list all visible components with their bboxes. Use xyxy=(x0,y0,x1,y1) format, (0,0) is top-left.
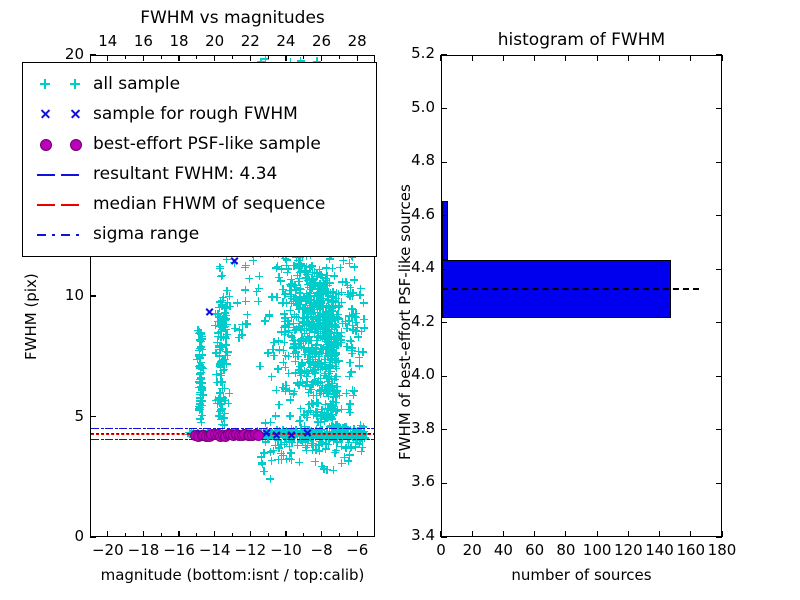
y-tick-left xyxy=(90,536,96,537)
x-tick-label-top: 14 xyxy=(94,34,122,49)
legend-box: all sample sample for rough FWHM best-ef… xyxy=(22,62,377,257)
x-tick-label-top: 22 xyxy=(236,34,264,49)
hist-y-tick xyxy=(441,108,447,109)
hist-y-tick xyxy=(441,215,447,216)
legend-label: all sample xyxy=(93,74,180,94)
x-minor-tick xyxy=(268,533,269,537)
hist-x-tick xyxy=(659,531,660,537)
hist-y-tick-label: 3.4 xyxy=(400,528,435,543)
hist-x-tick-label: 120 xyxy=(612,543,644,558)
x-tick-bottom xyxy=(250,531,251,537)
sigma-range-lower-line xyxy=(161,439,169,440)
right-panel-xlabel: number of sources xyxy=(441,566,722,584)
y-tick-label-left: 10 xyxy=(56,288,84,303)
x-minor-tick xyxy=(303,533,304,537)
histogram-data-area xyxy=(442,56,721,536)
x-tick-bottom xyxy=(107,531,108,537)
hist-y-tick-label: 3.8 xyxy=(400,421,435,436)
sigma-range-lower-line xyxy=(91,439,99,440)
x-minor-tick xyxy=(161,55,162,59)
x-tick-top xyxy=(214,55,215,61)
hist-x-tick xyxy=(597,531,598,537)
x-tick-top xyxy=(285,55,286,61)
hist-x-tick-top xyxy=(503,55,504,61)
cross-marker-icon xyxy=(31,103,93,125)
hist-x-tick-label: 60 xyxy=(519,543,551,558)
hist-y-tick-right xyxy=(716,269,722,270)
x-tick-top xyxy=(107,55,108,61)
x-tick-top xyxy=(321,55,322,61)
x-minor-tick xyxy=(232,55,233,59)
sigma-range-lower-line xyxy=(269,439,272,440)
sigma-range-lower-line xyxy=(339,439,342,440)
sigma-range-upper-line xyxy=(287,428,295,429)
hist-x-tick xyxy=(565,531,566,537)
sigma-range-lower-line xyxy=(273,439,281,440)
x-tick-label-top: 28 xyxy=(343,34,371,49)
sigma-range-lower-line xyxy=(301,439,309,440)
sigma-range-upper-line xyxy=(105,428,113,429)
legend-label: sample for rough FWHM xyxy=(93,104,298,124)
hist-x-tick-label: 20 xyxy=(456,543,488,558)
x-tick-label-bottom: −8 xyxy=(306,543,338,558)
sigma-range-lower-line xyxy=(367,439,370,440)
hist-x-tick xyxy=(503,531,504,537)
hist-y-tick xyxy=(441,54,447,55)
hist-x-tick-top xyxy=(690,55,691,61)
sigma-range-upper-line xyxy=(143,428,146,429)
legend-label: sigma range xyxy=(93,224,199,244)
sigma-range-upper-line xyxy=(133,428,141,429)
sigma-range-upper-line xyxy=(157,428,160,429)
x-minor-tick xyxy=(303,55,304,59)
x-tick-label-top: 24 xyxy=(272,34,300,49)
sigma-range-upper-line xyxy=(115,428,118,429)
sigma-range-lower-line xyxy=(283,439,286,440)
hist-y-tick-right xyxy=(716,429,722,430)
legend-entry: sample for rough FWHM xyxy=(31,99,368,129)
sigma-range-lower-line xyxy=(171,439,174,440)
y-tick-left xyxy=(90,54,96,55)
sigma-range-lower-line xyxy=(287,439,295,440)
hist-x-tick-label: 0 xyxy=(425,543,457,558)
sigma-range-upper-line xyxy=(171,428,174,429)
x-minor-tick xyxy=(161,533,162,537)
sigma-range-lower-line xyxy=(343,439,351,440)
sigma-range-upper-line xyxy=(325,428,328,429)
hist-y-tick xyxy=(441,376,447,377)
hist-y-tick xyxy=(441,162,447,163)
sigma-range-upper-line xyxy=(367,428,370,429)
y-tick-left xyxy=(90,416,96,417)
x-tick-top xyxy=(143,55,144,61)
hist-y-tick xyxy=(441,483,447,484)
dashed-line-red-icon xyxy=(31,193,93,215)
hist-y-tick xyxy=(441,322,447,323)
hist-x-tick-top xyxy=(472,55,473,61)
x-tick-label-bottom: −20 xyxy=(92,543,124,558)
sigma-range-upper-line xyxy=(343,428,351,429)
hist-y-tick-label: 4.6 xyxy=(400,207,435,222)
x-tick-top xyxy=(357,55,358,61)
legend-entry: median FHWM of sequence xyxy=(31,189,368,219)
sigma-range-upper-line xyxy=(371,428,374,429)
histogram-bar xyxy=(442,201,448,260)
sigma-range-lower-line xyxy=(371,439,374,440)
x-minor-tick xyxy=(125,55,126,59)
hist-x-tick xyxy=(534,531,535,537)
y-tick-label-left: 0 xyxy=(56,529,84,544)
histogram-axes xyxy=(441,55,722,537)
hist-x-tick-top xyxy=(721,55,722,61)
sigma-range-lower-line xyxy=(105,439,113,440)
sigma-range-upper-line xyxy=(185,428,188,429)
x-minor-tick xyxy=(196,55,197,59)
x-tick-bottom xyxy=(178,531,179,537)
sigma-range-lower-line xyxy=(119,439,127,440)
x-minor-tick xyxy=(232,533,233,537)
hist-x-tick xyxy=(628,531,629,537)
x-tick-bottom xyxy=(143,531,144,537)
hist-x-tick-label: 180 xyxy=(706,543,738,558)
x-tick-label-bottom: −6 xyxy=(341,543,373,558)
x-tick-bottom xyxy=(285,531,286,537)
x-tick-bottom xyxy=(214,531,215,537)
hist-x-tick-label: 100 xyxy=(581,543,613,558)
figure-canvas: FWHM vs magnitudes FWHM (pix) magnitude … xyxy=(0,0,800,600)
hist-x-tick-top xyxy=(565,55,566,61)
sigma-range-upper-line xyxy=(175,428,183,429)
x-tick-bottom xyxy=(357,531,358,537)
sigma-range-lower-line xyxy=(297,439,300,440)
hist-y-tick-right xyxy=(716,162,722,163)
sigma-range-lower-line xyxy=(115,439,118,440)
x-tick-label-bottom: −10 xyxy=(270,543,302,558)
hist-x-tick-label: 80 xyxy=(550,543,582,558)
hist-y-tick-label: 4.2 xyxy=(400,314,435,329)
legend-label: median FHWM of sequence xyxy=(93,194,325,214)
sigma-range-lower-line xyxy=(129,439,132,440)
hist-x-tick-label: 160 xyxy=(675,543,707,558)
hist-y-tick-label: 4.0 xyxy=(400,367,435,382)
x-tick-label-bottom: −18 xyxy=(127,543,159,558)
sigma-range-lower-line xyxy=(101,439,104,440)
x-tick-top xyxy=(178,55,179,61)
sigma-range-upper-line xyxy=(119,428,127,429)
x-minor-tick xyxy=(268,55,269,59)
sigma-range-upper-line xyxy=(329,428,337,429)
hist-y-tick-right xyxy=(716,376,722,377)
hist-x-tick-top xyxy=(628,55,629,61)
x-tick-bottom xyxy=(321,531,322,537)
hist-y-tick-label: 4.8 xyxy=(400,153,435,168)
hist-x-tick-label: 40 xyxy=(487,543,519,558)
hist-y-tick-right xyxy=(716,483,722,484)
legend-entry: all sample xyxy=(31,69,368,99)
hist-y-tick-right xyxy=(716,536,722,537)
sigma-range-upper-line xyxy=(91,428,99,429)
hist-y-tick-label: 5.0 xyxy=(400,100,435,115)
hist-x-tick-top xyxy=(659,55,660,61)
sigma-range-lower-line xyxy=(157,439,160,440)
hist-x-tick-top xyxy=(597,55,598,61)
sigma-range-upper-line xyxy=(273,428,281,429)
hist-x-tick xyxy=(472,531,473,537)
sigma-range-upper-line xyxy=(161,428,169,429)
sigma-range-upper-line xyxy=(353,428,356,429)
hist-y-tick-right xyxy=(716,215,722,216)
sigma-range-lower-line xyxy=(315,439,323,440)
x-tick-label-top: 16 xyxy=(129,34,157,49)
hist-y-tick xyxy=(441,536,447,537)
x-tick-label-top: 26 xyxy=(308,34,336,49)
sigma-range-lower-line xyxy=(185,439,188,440)
histogram-median-line xyxy=(442,288,699,290)
x-tick-top xyxy=(250,55,251,61)
circle-marker-icon xyxy=(31,133,93,155)
left-panel-xlabel: magnitude (bottom:isnt / top:calib) xyxy=(90,566,375,584)
sigma-range-lower-line xyxy=(143,439,146,440)
sigma-range-lower-line xyxy=(353,439,356,440)
legend-label: best-effort PSF-like sample xyxy=(93,134,321,154)
sigma-range-upper-line xyxy=(147,428,155,429)
sigma-range-upper-line xyxy=(101,428,104,429)
x-minor-tick xyxy=(196,533,197,537)
hist-y-tick xyxy=(441,429,447,430)
hist-y-tick-label: 4.4 xyxy=(400,260,435,275)
x-minor-tick xyxy=(125,533,126,537)
hist-y-tick-right xyxy=(716,108,722,109)
hist-x-tick xyxy=(690,531,691,537)
sigma-range-lower-line xyxy=(175,439,183,440)
legend-entry: best-effort PSF-like sample xyxy=(31,129,368,159)
left-panel-title: FWHM vs magnitudes xyxy=(90,8,375,28)
legend-entry: resultant FWHM: 4.34 xyxy=(31,159,368,189)
y-tick-label-left: 5 xyxy=(56,409,84,424)
x-tick-label-bottom: −14 xyxy=(199,543,231,558)
dashdot-line-blue-icon xyxy=(31,223,93,245)
sigma-range-lower-line xyxy=(311,439,314,440)
sigma-range-upper-line xyxy=(129,428,132,429)
plus-marker-icon xyxy=(31,73,93,95)
sigma-range-upper-line xyxy=(357,428,365,429)
sigma-range-lower-line xyxy=(133,439,141,440)
y-tick-left xyxy=(90,295,96,296)
sigma-range-lower-line xyxy=(325,439,328,440)
sigma-range-lower-line xyxy=(329,439,337,440)
sigma-range-lower-line xyxy=(147,439,155,440)
sigma-range-upper-line xyxy=(315,428,323,429)
hist-y-tick-label: 3.6 xyxy=(400,474,435,489)
x-minor-tick xyxy=(339,55,340,59)
hist-y-tick-right xyxy=(716,322,722,323)
x-tick-label-bottom: −16 xyxy=(163,543,195,558)
dashed-line-blue-icon xyxy=(31,163,93,185)
sigma-range-upper-line xyxy=(311,428,314,429)
hist-y-tick-label: 5.2 xyxy=(400,46,435,61)
y-tick-label-left: 20 xyxy=(56,47,84,62)
legend-label: resultant FWHM: 4.34 xyxy=(93,164,277,184)
x-tick-label-top: 18 xyxy=(165,34,193,49)
sigma-range-upper-line xyxy=(283,428,286,429)
sigma-range-upper-line xyxy=(297,428,300,429)
sigma-range-lower-line xyxy=(357,439,365,440)
hist-x-tick-top xyxy=(440,55,441,61)
sigma-range-upper-line xyxy=(339,428,342,429)
legend-entry: sigma range xyxy=(31,219,368,249)
left-panel-ylabel: FWHM (pix) xyxy=(22,273,40,360)
hist-y-tick xyxy=(441,269,447,270)
hist-x-tick-label: 140 xyxy=(644,543,676,558)
right-panel-title: histogram of FWHM xyxy=(441,30,722,50)
hist-x-tick-top xyxy=(534,55,535,61)
x-minor-tick xyxy=(339,533,340,537)
x-tick-label-top: 20 xyxy=(201,34,229,49)
x-tick-label-bottom: −12 xyxy=(234,543,266,558)
